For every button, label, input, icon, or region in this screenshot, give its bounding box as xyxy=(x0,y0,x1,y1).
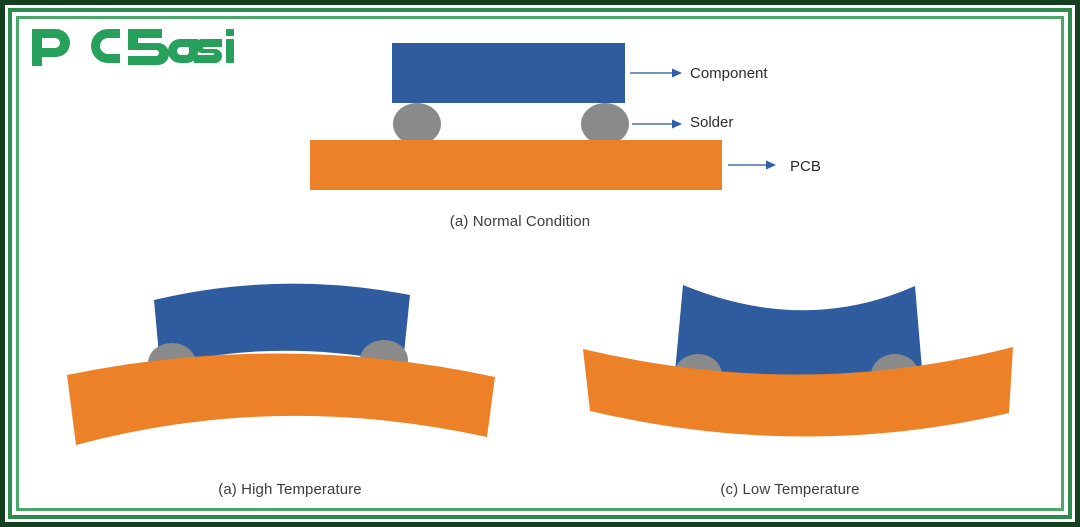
pcb-annotation-label: PCB xyxy=(790,158,821,175)
figure-high-temperature xyxy=(55,265,525,465)
pcb-leader-arrow xyxy=(728,161,776,170)
component-leader-arrow xyxy=(630,69,682,78)
caption-high-temperature: (a) High Temperature xyxy=(100,481,480,498)
caption-normal-condition: (a) Normal Condition xyxy=(330,213,710,230)
pcbasic-wordmark-icon xyxy=(30,27,235,67)
solder-leader-arrow xyxy=(632,120,682,129)
figure-page: Component Solder PCB (a) Normal Conditio… xyxy=(0,0,1080,527)
figure-low-temperature xyxy=(565,265,1035,465)
figure-normal-condition xyxy=(300,35,860,210)
component-body xyxy=(392,43,625,103)
pcb-board-warped xyxy=(67,353,495,445)
pcbasic-logo[interactable] xyxy=(30,26,235,68)
component-annotation-label: Component xyxy=(690,65,768,82)
solder-annotation-label: Solder xyxy=(690,114,733,131)
solder-joint-left xyxy=(393,103,441,145)
solder-joint-right xyxy=(581,103,629,145)
pcb-board xyxy=(310,140,722,190)
caption-low-temperature: (c) Low Temperature xyxy=(600,481,980,498)
